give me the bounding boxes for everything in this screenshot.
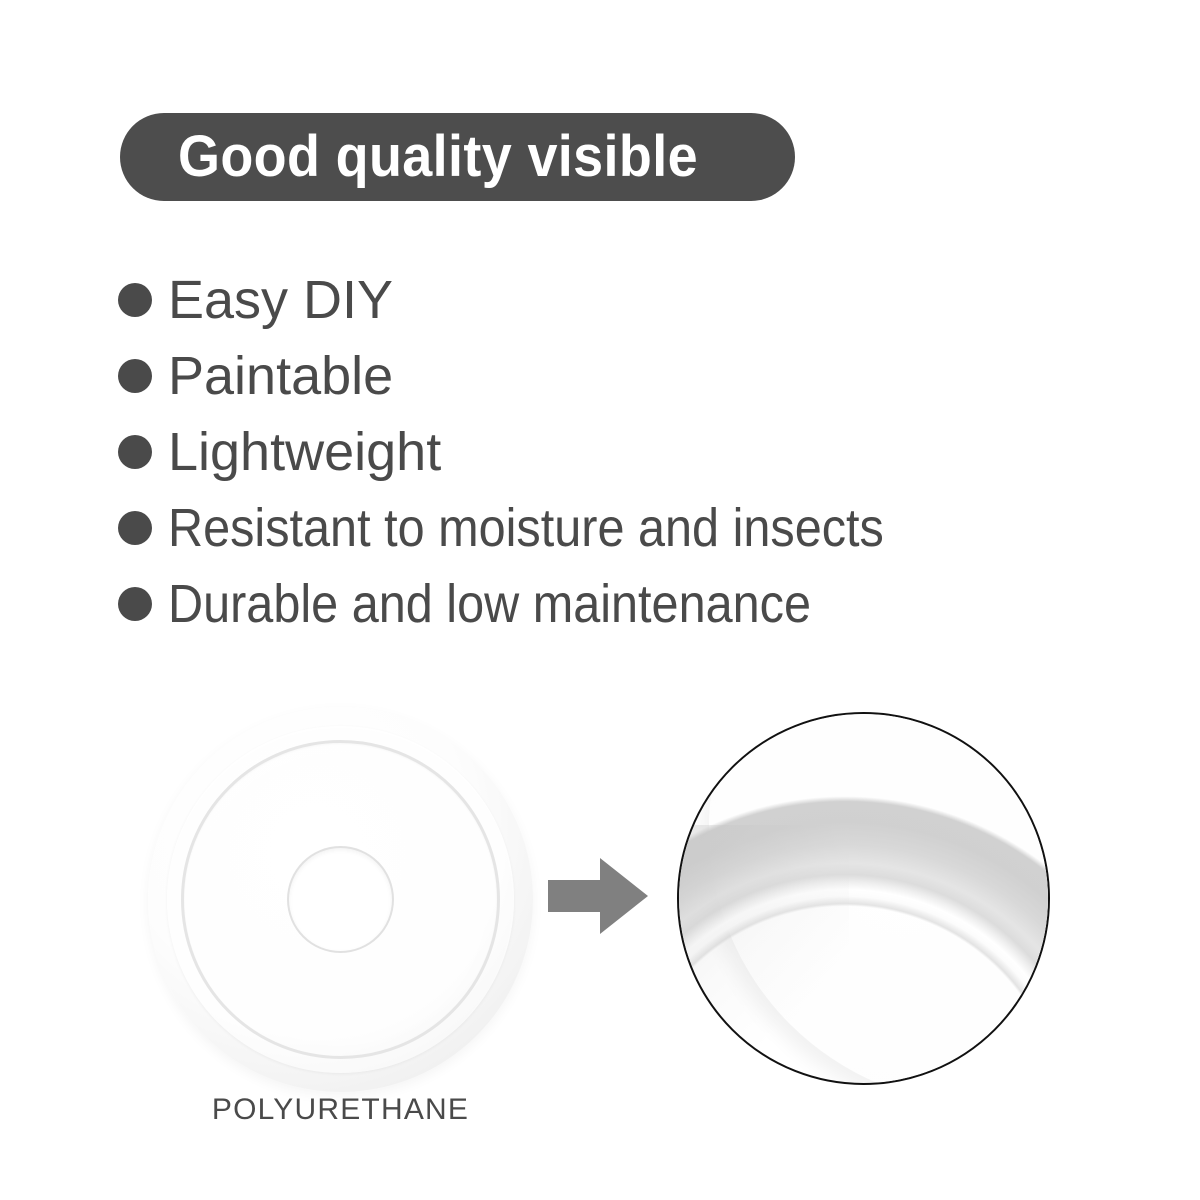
zoom-detail-circle [677, 712, 1050, 1085]
bullet-dot-icon [118, 435, 152, 469]
list-item: Durable and low maintenance [118, 566, 1118, 642]
feature-list: Easy DIY Paintable Lightweight Resistant… [118, 262, 1118, 642]
list-item: Easy DIY [118, 262, 1118, 338]
product-imagery: POLYURETHANE [0, 690, 1200, 1110]
list-item: Resistant to moisture and insects [118, 490, 1118, 566]
zoom-detail-content [679, 714, 1048, 1083]
bullet-dot-icon [118, 359, 152, 393]
list-item: Lightweight [118, 414, 1118, 490]
feature-label: Lightweight [168, 425, 441, 479]
material-caption: POLYURETHANE [148, 1093, 533, 1127]
page-title: Good quality visible [178, 128, 698, 186]
feature-label: Resistant to moisture and insects [168, 501, 884, 555]
feature-label: Durable and low maintenance [168, 577, 811, 631]
arrow-right-icon [548, 858, 648, 934]
feature-label: Paintable [168, 349, 393, 403]
bullet-dot-icon [118, 283, 152, 317]
infographic-page: Good quality visible Easy DIY Paintable … [0, 0, 1200, 1200]
medallion-body [148, 707, 533, 1092]
header-pill: Good quality visible [120, 113, 795, 201]
bullet-dot-icon [118, 587, 152, 621]
detail-shading [679, 825, 849, 1083]
bullet-dot-icon [118, 511, 152, 545]
list-item: Paintable [118, 338, 1118, 414]
medallion-center-hole [289, 848, 392, 951]
ceiling-medallion-image [148, 707, 533, 1092]
feature-label: Easy DIY [168, 273, 393, 327]
